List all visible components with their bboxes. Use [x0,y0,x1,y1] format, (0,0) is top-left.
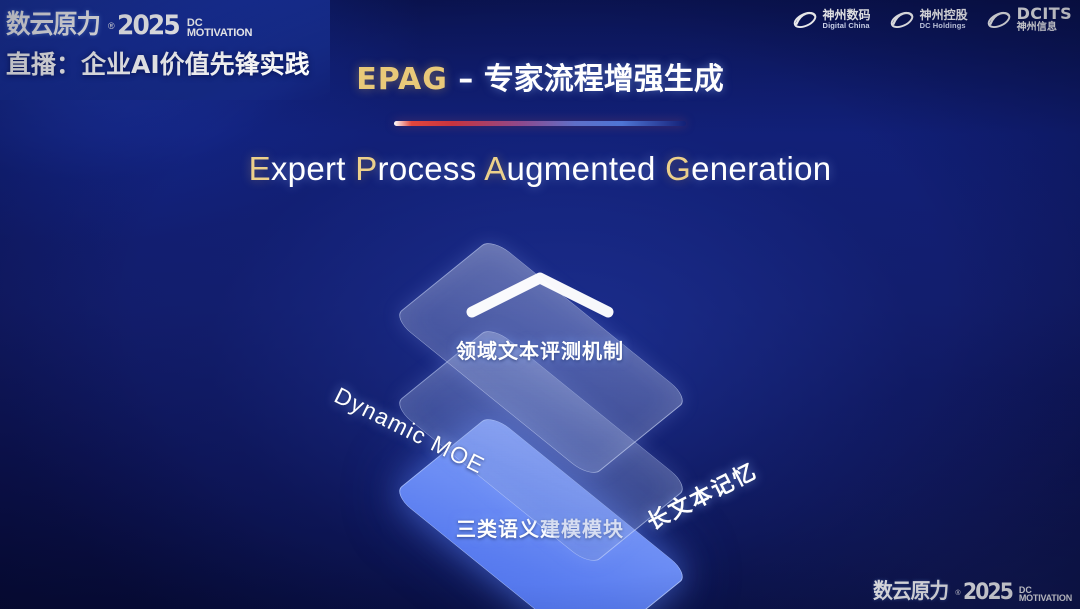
partner-logo-dcits: DCITS 神州信息 [986,6,1072,33]
swirl-icon [792,7,818,33]
partner-name-cn: DCITS [1017,6,1072,23]
subtitle-cap-p: P [355,150,377,187]
subtitle-word-expert: xpert [271,150,355,187]
partner-label: 神州数码 Digital China [823,9,871,29]
swirl-icon [986,7,1012,33]
subtitle-cap-e: E [249,150,271,187]
stack-layer-top[interactable]: 领域文本评测机制 [280,232,800,482]
footer-logo-year: 2025 [963,580,1012,605]
partner-name-en: 神州信息 [1017,23,1072,34]
chevron-up-icon [464,268,616,320]
brand-dc-line2: MOTIVATION [187,28,252,39]
footer-logo-dc: DC MOTIVATION [1019,586,1072,603]
footer-dc-line2: MOTIVATION [1019,594,1072,603]
partner-name-en: Digital China [823,22,871,30]
page-title: EPAG – 专家流程增强生成 [0,54,1080,98]
subtitle-cap-g: G [665,150,691,187]
partner-label: 神州控股 DC Holdings [920,9,968,29]
subtitle-word-generation: eneration [691,150,831,187]
partner-name-en: DC Holdings [920,22,968,30]
swirl-icon [889,7,915,33]
partner-label: DCITS 神州信息 [1017,6,1072,33]
footer-logo-cn: 数云原力 [873,575,948,605]
partner-logo-digital-china: 神州数码 Digital China [792,7,871,33]
title-acronym: EPAG [356,62,448,97]
title-divider [394,121,686,126]
subtitle: Expert Process Augmented Generation [0,150,1080,188]
brand-logo-cn: 数云原力 [6,4,100,41]
partner-logo-group: 神州数码 Digital China 神州控股 DC Holdings [792,6,1072,33]
title-chinese: 专家流程增强生成 [484,62,724,97]
brand-logo: 数云原力 ® 2025 DC MOTIVATION [6,4,252,41]
partner-logo-dc-holdings: 神州控股 DC Holdings [889,7,968,33]
footer-watermark-logo: 数云原力 ® 2025 DC MOTIVATION [873,575,1072,605]
layered-stack-diagram: 三类语义建模模块 领域文本评测机制 Dynamic MOE 长文本记忆 [280,232,800,572]
brand-logo-year: 2025 [117,10,179,41]
subtitle-word-process: rocess [378,150,485,187]
subtitle-word-augmented: ugmented [507,150,666,187]
brand-logo-dc: DC MOTIVATION [187,18,252,39]
brand-registered-mark: ® [108,21,115,31]
subtitle-cap-a: A [484,150,506,187]
slide-canvas: 数云原力 ® 2025 DC MOTIVATION 直播：企业AI价值先锋实践 … [0,0,1080,609]
title-separator: – [448,62,484,97]
footer-registered-mark: ® [955,590,960,597]
